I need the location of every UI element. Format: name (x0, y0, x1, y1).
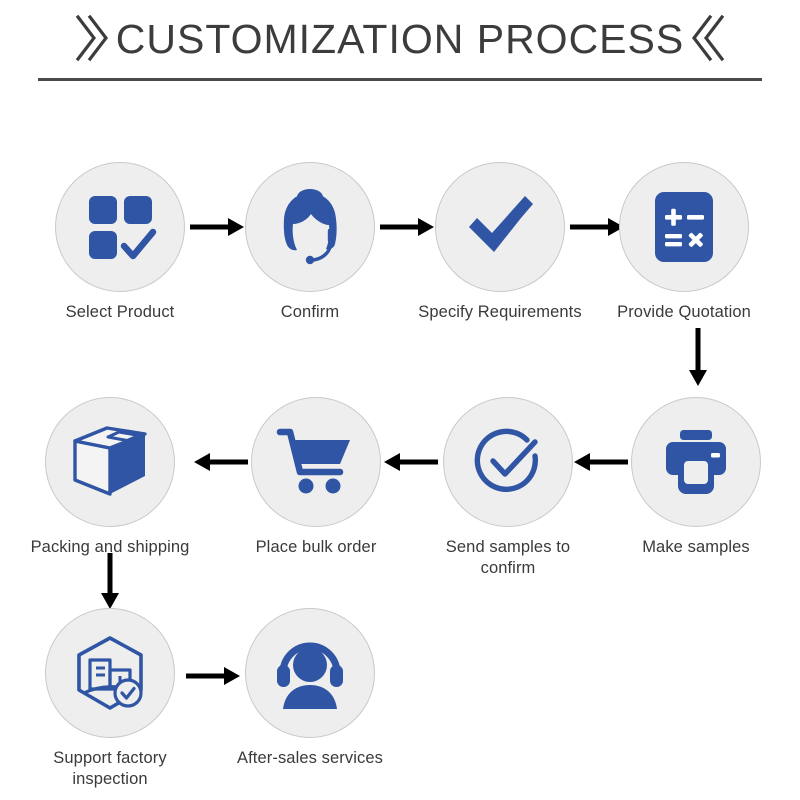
process-step-packing-and-shipping[interactable]: Packing and shipping (22, 397, 198, 558)
calculator-icon (649, 188, 719, 266)
step-icon-circle (443, 397, 573, 527)
process-step-place-bulk-order[interactable]: Place bulk order (228, 397, 404, 558)
process-step-make-samples[interactable]: Make samples (608, 397, 784, 558)
process-step-after-sales-services[interactable]: After-sales services (222, 608, 398, 769)
printer-icon (658, 427, 734, 497)
grid-check-icon (83, 190, 157, 264)
process-step-send-samples-to-confirm[interactable]: Send samples to confirm (420, 397, 596, 578)
process-step-provide-quotation[interactable]: Provide Quotation (596, 162, 772, 323)
step-icon-circle (631, 397, 761, 527)
process-step-specify-requirements[interactable]: Specify Requirements (412, 162, 588, 323)
step-icon-circle (45, 397, 175, 527)
headset-agent-icon (271, 188, 349, 266)
factory-inspection-icon (70, 633, 150, 713)
process-flow: Select Product (0, 0, 800, 800)
package-box-icon (69, 424, 151, 500)
connector-arrow-4-5 (685, 328, 711, 388)
customization-process-infographic: CUSTOMIZATION PROCESS (0, 0, 800, 800)
step-label: Send samples to confirm (420, 537, 596, 578)
circle-check-icon (469, 423, 547, 501)
step-label: Packing and shipping (31, 537, 190, 558)
step-label: After-sales services (237, 748, 383, 769)
step-icon-circle (245, 608, 375, 738)
step-icon-circle (55, 162, 185, 292)
step-label: Support factory inspection (53, 748, 166, 789)
process-step-confirm[interactable]: Confirm (222, 162, 398, 323)
step-label: Make samples (642, 537, 750, 558)
step-label: Place bulk order (256, 537, 377, 558)
checkmark-icon (461, 188, 539, 266)
process-step-support-factory-inspection[interactable]: Support factory inspection (22, 608, 198, 789)
step-icon-circle (251, 397, 381, 527)
step-icon-circle (245, 162, 375, 292)
shopping-cart-icon (276, 426, 356, 498)
process-step-select-product[interactable]: Select Product (32, 162, 208, 323)
step-icon-circle (45, 608, 175, 738)
step-icon-circle (435, 162, 565, 292)
connector-arrow-8-9 (97, 553, 123, 611)
step-label: Confirm (281, 302, 339, 323)
step-label: Specify Requirements (418, 302, 581, 323)
headset-person-icon (271, 637, 349, 709)
step-label: Provide Quotation (617, 302, 751, 323)
step-icon-circle (619, 162, 749, 292)
step-label: Select Product (66, 302, 175, 323)
